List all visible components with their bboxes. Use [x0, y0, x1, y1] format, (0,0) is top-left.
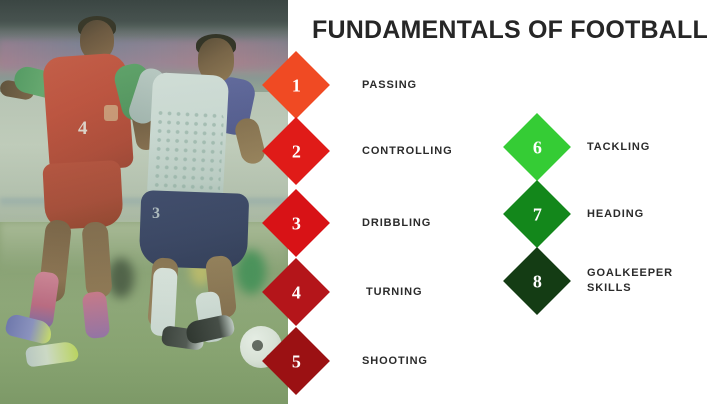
step-diamond-3[interactable]: 3 — [262, 189, 330, 257]
step-number: 7 — [533, 205, 542, 223]
step-number: 4 — [292, 283, 301, 301]
step-label: SHOOTING — [362, 354, 428, 369]
step-row[interactable]: 1PASSING — [272, 61, 417, 109]
photo-green-tint-overlay — [0, 0, 288, 404]
step-number: 5 — [292, 352, 301, 370]
step-number: 6 — [533, 138, 542, 156]
football-photo: 4 3 — [0, 0, 288, 404]
step-row[interactable]: 8GOALKEEPER SKILLS — [513, 257, 673, 305]
step-row[interactable]: 7HEADING — [513, 190, 644, 238]
page-title: FUNDAMENTALS OF FOOTBALL — [312, 16, 708, 45]
step-diamond-2[interactable]: 2 — [262, 117, 330, 185]
step-label: PASSING — [362, 78, 417, 93]
slide-canvas: 4 3 FUNDAMENTALS OF FOOTBALL 1PASSING2CO… — [0, 0, 720, 404]
step-diamond-8[interactable]: 8 — [503, 247, 571, 315]
step-label: CONTROLLING — [362, 144, 453, 159]
step-number: 2 — [292, 142, 301, 160]
step-label: TACKLING — [587, 140, 650, 155]
step-row[interactable]: 5SHOOTING — [272, 337, 428, 385]
step-label: DRIBBLING — [362, 216, 431, 231]
step-number: 3 — [292, 214, 301, 232]
step-diamond-7[interactable]: 7 — [503, 180, 571, 248]
step-diamond-1[interactable]: 1 — [262, 51, 330, 119]
step-label: HEADING — [587, 207, 644, 222]
step-row[interactable]: 2CONTROLLING — [272, 127, 453, 175]
step-diamond-4[interactable]: 4 — [262, 258, 330, 326]
step-diamond-6[interactable]: 6 — [503, 113, 571, 181]
step-row[interactable]: 6TACKLING — [513, 123, 650, 171]
step-label: GOALKEEPER SKILLS — [587, 266, 673, 296]
step-label: TURNING — [366, 285, 422, 300]
step-number: 8 — [533, 272, 542, 290]
step-row[interactable]: 4TURNING — [272, 268, 422, 316]
step-number: 1 — [292, 76, 301, 94]
step-row[interactable]: 3DRIBBLING — [272, 199, 431, 247]
step-diamond-5[interactable]: 5 — [262, 327, 330, 395]
